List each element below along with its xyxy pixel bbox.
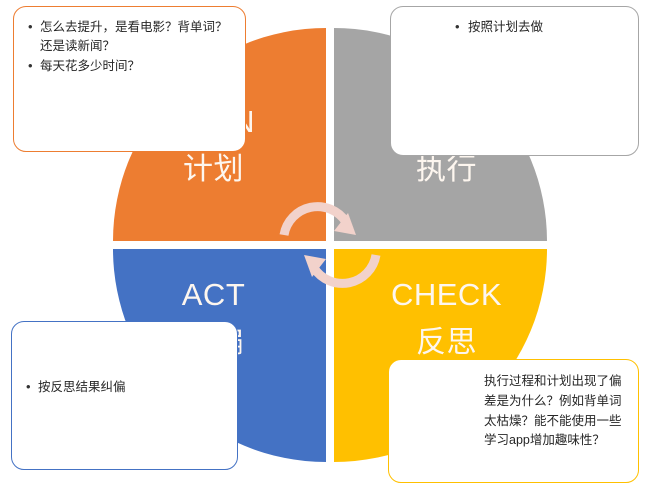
quadrant-check-label: CHECK 反思 [340,279,547,358]
callout-plan[interactable]: 怎么去提升，是看电影？背单词？还是读新闻？ 每天花多少时间？ [13,6,246,152]
quadrant-plan-label-zh: 计划 [113,155,320,185]
callout-do[interactable]: 按照计划去做 [390,6,639,156]
quadrant-act-label-en: ACT [113,279,320,310]
callout-do-list: 按照计划去做 [404,18,625,37]
callout-do-bullet-1: 按照计划去做 [466,18,625,37]
callout-act[interactable]: 按反思结果纠偏 [11,321,238,470]
callout-plan-bullet-1: 怎么去提升，是看电影？背单词？还是读新闻？ [38,18,232,56]
callout-plan-list: 怎么去提升，是看电影？背单词？还是读新闻？ 每天花多少时间？ [27,18,232,76]
callout-check[interactable]: 执行过程和计划出现了偏差是为什么？例如背单词太枯燥？能不能使用一些学习app增加… [388,359,639,483]
quadrant-do-label-zh: 执行 [340,155,547,185]
callout-act-list: 按反思结果纠偏 [25,378,224,397]
pdca-diagram-canvas: PLAN 计划 DO 执行 ACT 纠偏 CHECK 反思 [0,0,650,488]
quadrant-check-label-zh: 反思 [340,328,547,358]
callout-plan-bullet-2: 每天花多少时间？ [38,57,232,76]
callout-check-text: 执行过程和计划出现了偏差是为什么？例如背单词太枯燥？能不能使用一些学习app增加… [484,372,625,451]
callout-act-bullet-1: 按反思结果纠偏 [36,378,224,397]
quadrant-check-label-en: CHECK [340,279,547,310]
